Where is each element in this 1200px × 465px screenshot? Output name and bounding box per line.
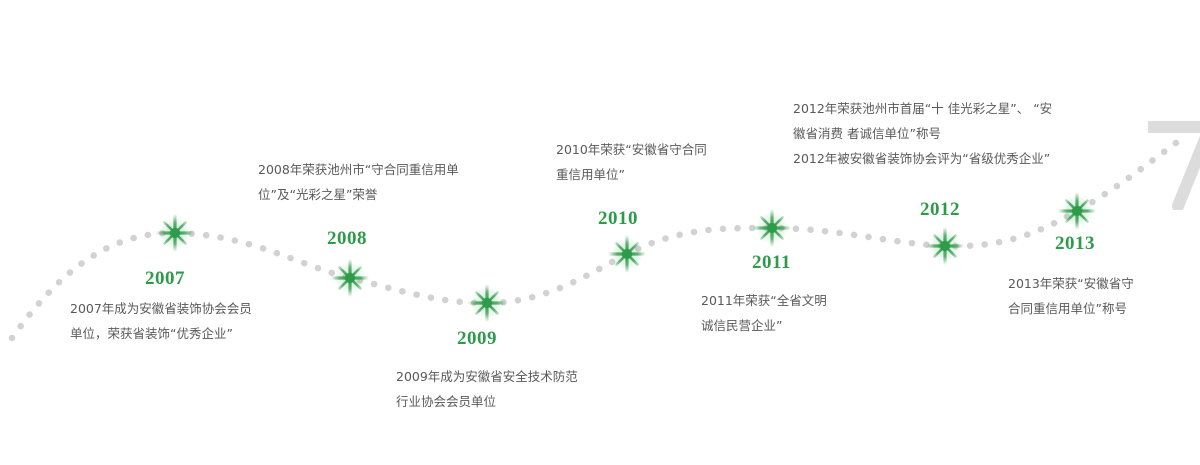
timeline-graphic: 2007200820092010201120122013 2007年成为安徽省装… [0, 0, 1200, 465]
milestone-description-2007: 2007年成为安徽省装饰协会会员单位，荣获省装饰“优秀企业” [70, 296, 252, 346]
milestone-description-2011: 2011年荣获“全省文明诚信民营企业” [701, 288, 827, 338]
milestone-description-2010: 2010年荣获“安徽省守合同重信用单位” [556, 137, 707, 187]
description-line: 位”及“光彩之星”荣誉 [258, 182, 459, 207]
decorative-numeral-seven [1148, 118, 1200, 210]
starburst-icon [926, 227, 964, 265]
year-label-2009: 2009 [457, 328, 497, 350]
year-label-2010: 2010 [598, 208, 638, 230]
starburst-icon [156, 214, 194, 252]
description-line: 2012年荣获池州市首届“十 佳光彩之星”、 “安 [793, 96, 1052, 121]
year-label-2008: 2008 [327, 228, 367, 250]
milestone-description-2009: 2009年成为安徽省安全技术防范行业协会会员单位 [396, 364, 578, 414]
description-line: 2010年荣获“安徽省守合同 [556, 137, 707, 162]
description-line: 单位，荣获省装饰“优秀企业” [70, 321, 252, 346]
description-line: 徽省消费 者诚信单位”称号 [793, 121, 1052, 146]
milestone-description-2008: 2008年荣获池州市“守合同重信用单位”及“光彩之星”荣誉 [258, 157, 459, 207]
description-line: 重信用单位” [556, 162, 707, 187]
year-label-2011: 2011 [752, 252, 791, 274]
milestone-description-2012: 2012年荣获池州市首届“十 佳光彩之星”、 “安徽省消费 者诚信单位”称号20… [793, 96, 1052, 171]
starburst-icon [608, 235, 646, 273]
description-line: 合同重信用单位”称号 [1008, 296, 1134, 321]
milestone-description-2013: 2013年荣获“安徽省守合同重信用单位”称号 [1008, 271, 1134, 321]
starburst-icon [753, 209, 791, 247]
description-line: 2008年荣获池州市“守合同重信用单 [258, 157, 459, 182]
year-label-2012: 2012 [920, 199, 960, 221]
starburst-icon [331, 259, 369, 297]
description-line: 2012年被安徽省装饰协会评为“省级优秀企业” [793, 146, 1052, 171]
description-line: 2011年荣获“全省文明 [701, 288, 827, 313]
year-label-2013: 2013 [1055, 233, 1095, 255]
description-line: 2007年成为安徽省装饰协会会员 [70, 296, 252, 321]
starburst-icon [468, 284, 506, 322]
year-label-2007: 2007 [145, 268, 185, 290]
description-line: 行业协会会员单位 [396, 389, 578, 414]
starburst-icon [1058, 192, 1096, 230]
description-line: 诚信民营企业” [701, 313, 827, 338]
description-line: 2009年成为安徽省安全技术防范 [396, 364, 578, 389]
description-line: 2013年荣获“安徽省守 [1008, 271, 1134, 296]
